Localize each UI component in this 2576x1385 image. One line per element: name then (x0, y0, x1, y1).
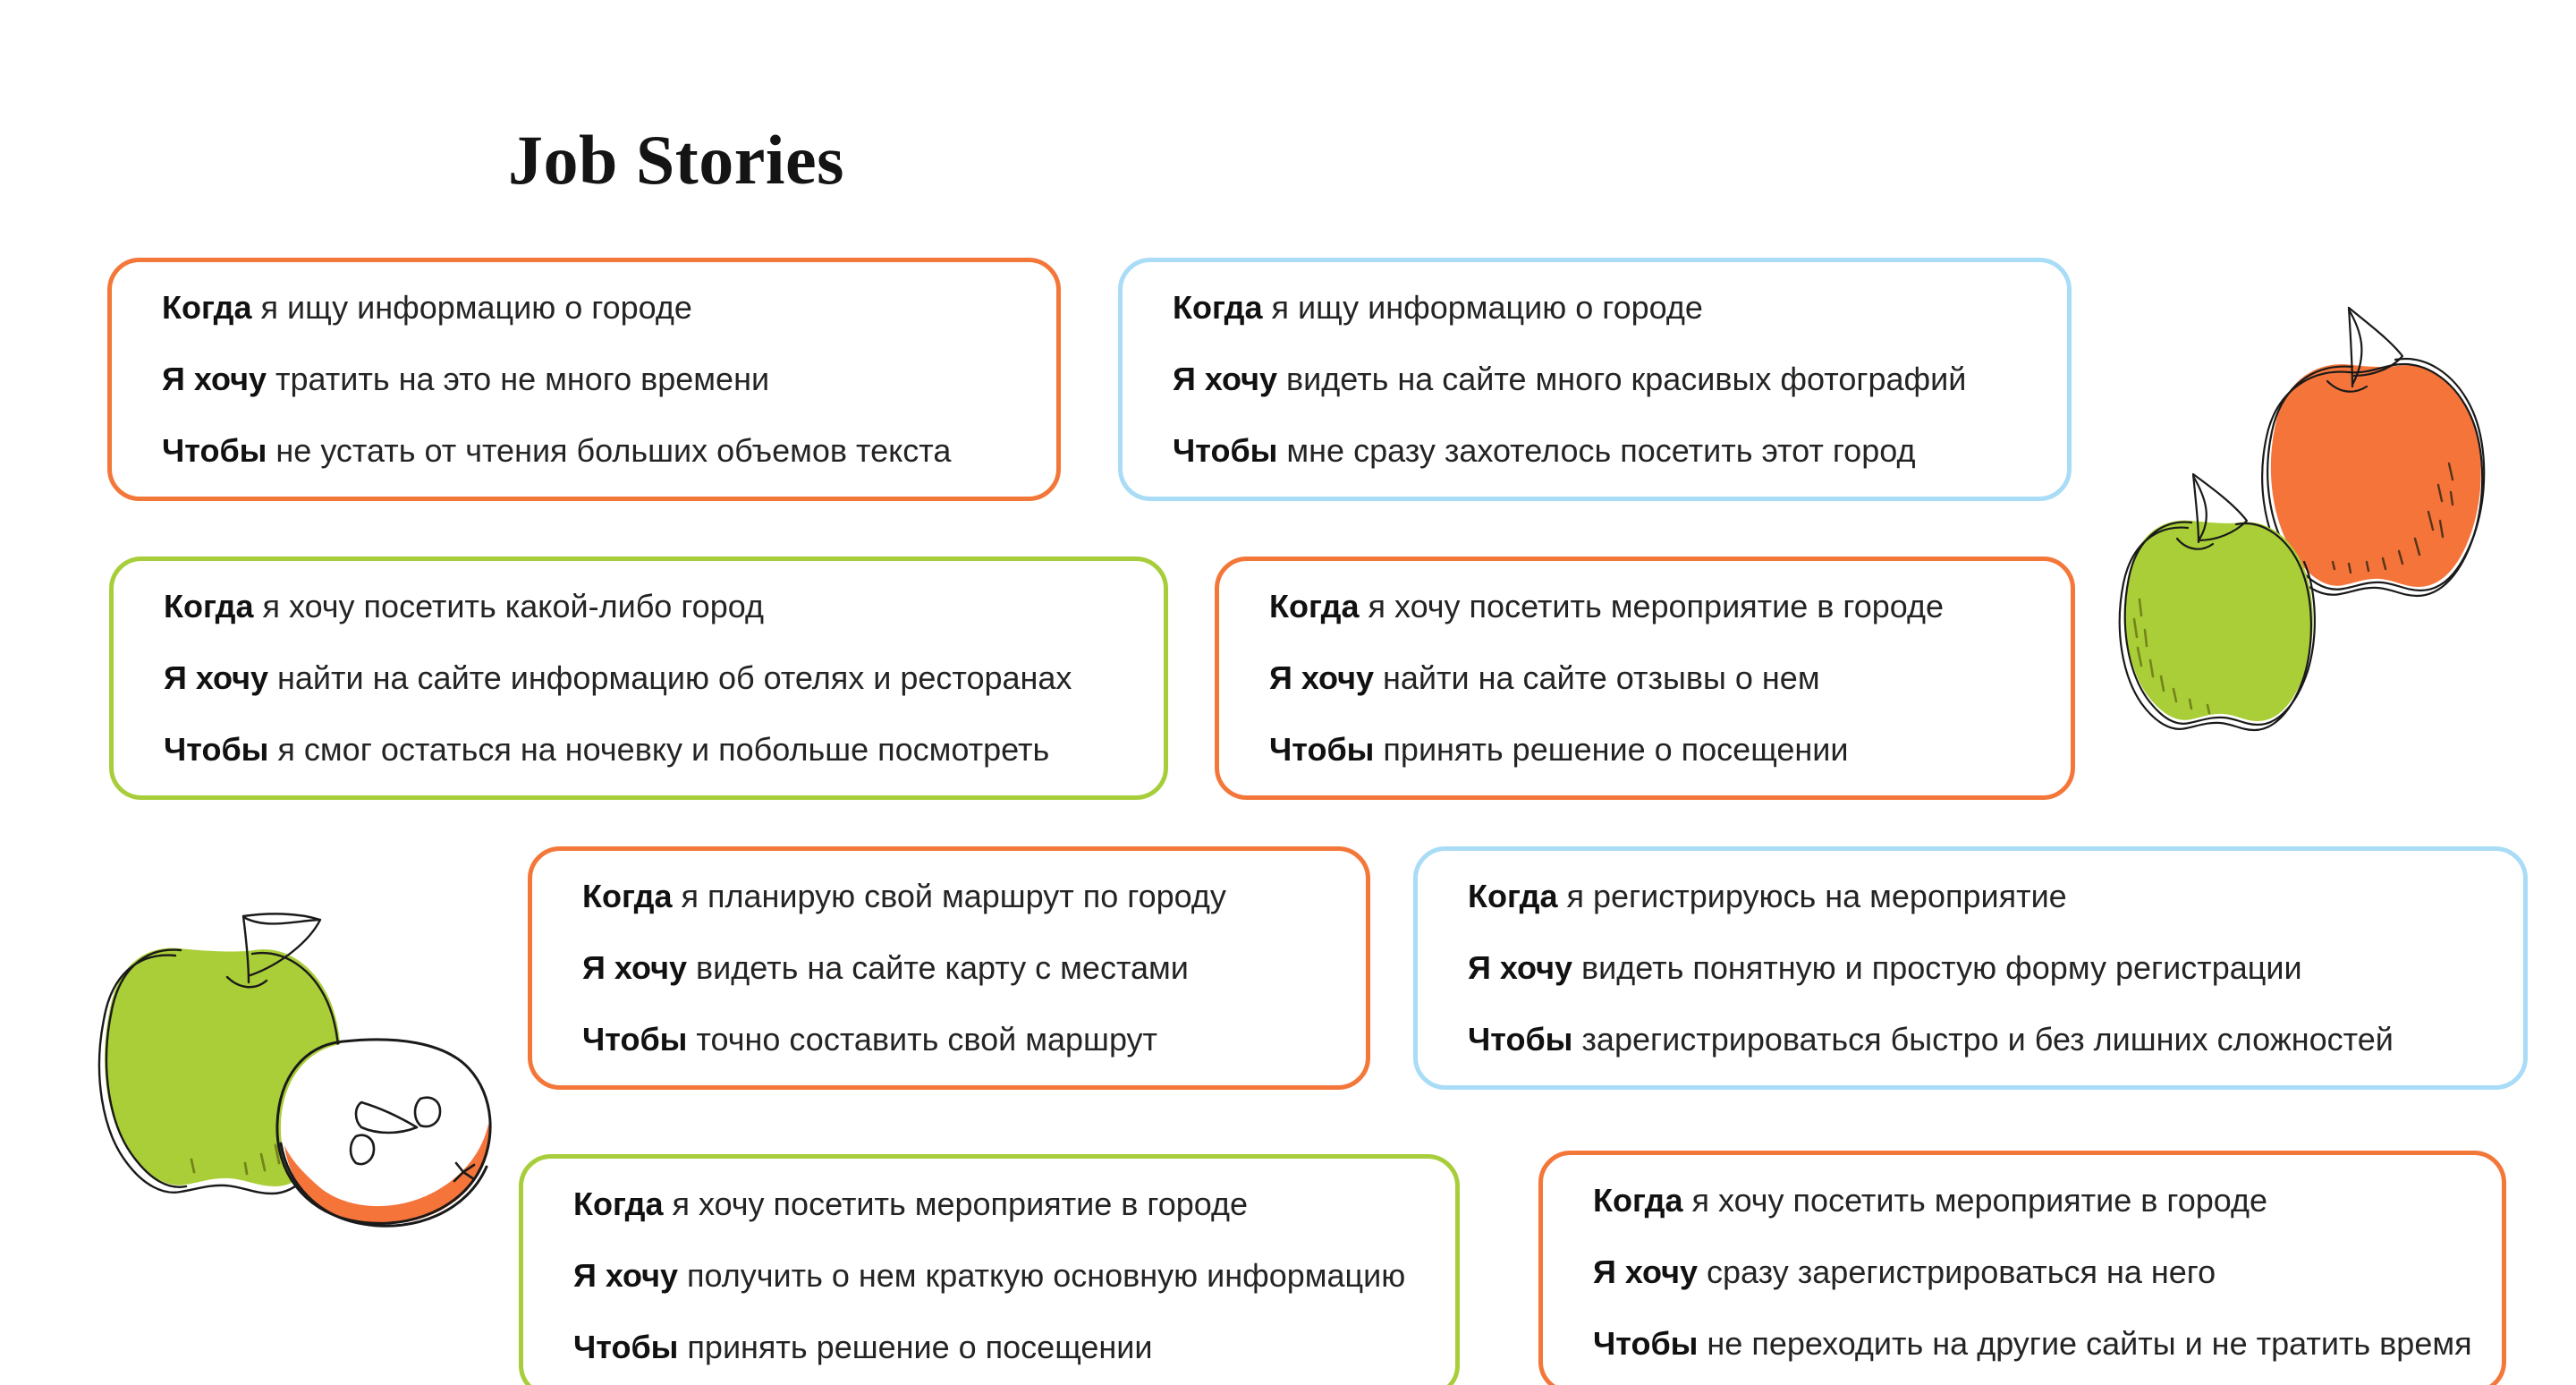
job-story-text: мне сразу захотелось посетить этот город (1277, 432, 1915, 469)
job-story-line: Когда я хочу посетить мероприятие в горо… (573, 1184, 1405, 1225)
job-story-line: Я хочу видеть на сайте много красивых фо… (1173, 359, 2017, 400)
job-story-line: Я хочу найти на сайте отзывы о нем (1269, 658, 2021, 699)
job-story-text: сразу зарегистрироваться на него (1698, 1253, 2216, 1290)
page-title: Job Stories (508, 125, 844, 195)
job-story-line: Чтобы я смог остаться на ночевку и побол… (164, 729, 1114, 770)
job-story-text: я смог остаться на ночевку и побольше по… (268, 731, 1049, 768)
job-story-text: не переходить на другие сайты и не трати… (1698, 1325, 2471, 1362)
job-story-card: Когда я ищу информацию о городе Я хочу т… (107, 258, 1061, 501)
job-story-text: я ищу информацию о городе (1262, 289, 1702, 326)
job-story-text: я хочу посетить мероприятие в городе (1682, 1182, 2267, 1219)
job-story-label: Когда (582, 878, 672, 914)
job-story-line: Когда я хочу посетить мероприятие в горо… (1593, 1180, 2452, 1221)
job-story-text: найти на сайте отзывы о нем (1374, 659, 1820, 696)
job-story-text: принять решение о посещении (678, 1329, 1152, 1365)
job-story-line: Я хочу найти на сайте информацию об отел… (164, 658, 1114, 699)
job-story-card: Когда я ищу информацию о городе Я хочу в… (1118, 258, 2072, 501)
job-story-label: Чтобы (582, 1021, 687, 1058)
job-story-line: Когда я хочу посетить мероприятие в горо… (1269, 586, 2021, 627)
job-story-card: Когда я хочу посетить мероприятие в горо… (1215, 557, 2075, 800)
job-story-label: Когда (1468, 878, 1557, 914)
job-story-label: Когда (1173, 289, 1262, 326)
job-story-line: Когда я хочу посетить какой-либо город (164, 586, 1114, 627)
job-story-text: видеть на сайте много красивых фотографи… (1277, 361, 1966, 397)
job-story-line: Когда я планирую свой маршрут по городу (582, 876, 1316, 917)
job-story-label: Когда (1593, 1182, 1682, 1219)
job-story-text: я хочу посетить мероприятие в городе (663, 1185, 1248, 1222)
job-story-label: Я хочу (1468, 949, 1572, 986)
job-story-label: Чтобы (1468, 1021, 1572, 1058)
job-story-label: Я хочу (162, 361, 267, 397)
job-story-label: Я хочу (1173, 361, 1277, 397)
job-story-line: Я хочу сразу зарегистрироваться на него (1593, 1252, 2452, 1293)
job-story-text: я ищу информацию о городе (251, 289, 691, 326)
job-story-line: Чтобы принять решение о посещении (1269, 729, 2021, 770)
job-story-line: Чтобы не устать от чтения больших объемо… (162, 430, 1006, 472)
job-story-line: Я хочу видеть на сайте карту с местами (582, 947, 1316, 989)
job-story-line: Чтобы мне сразу захотелось посетить этот… (1173, 430, 2017, 472)
job-story-text: видеть на сайте карту с местами (687, 949, 1189, 986)
job-story-label: Чтобы (573, 1329, 678, 1365)
job-story-line: Я хочу видеть понятную и простую форму р… (1468, 947, 2473, 989)
job-story-text: я планирую свой маршрут по городу (672, 878, 1225, 914)
job-story-label: Чтобы (1269, 731, 1374, 768)
job-story-label: Чтобы (164, 731, 268, 768)
job-story-label: Я хочу (1269, 659, 1374, 696)
job-story-text: получить о нем краткую основную информац… (678, 1257, 1405, 1294)
job-story-card: Когда я хочу посетить мероприятие в горо… (519, 1154, 1460, 1385)
job-story-label: Чтобы (162, 432, 267, 469)
job-story-card: Когда я регистрируюсь на мероприятие Я х… (1413, 846, 2528, 1090)
job-story-line: Чтобы точно составить свой маршрут (582, 1019, 1316, 1060)
apple-pair-illustration (2084, 286, 2549, 734)
job-story-label: Когда (162, 289, 251, 326)
job-story-text: зарегистрироваться быстро и без лишних с… (1572, 1021, 2393, 1058)
job-story-line: Чтобы зарегистрироваться быстро и без ли… (1468, 1019, 2473, 1060)
job-story-text: не устать от чтения больших объемов текс… (267, 432, 951, 469)
job-story-line: Когда я ищу информацию о городе (1173, 287, 2017, 328)
job-story-label: Я хочу (573, 1257, 678, 1294)
job-story-label: Я хочу (164, 659, 268, 696)
job-story-label: Когда (1269, 588, 1359, 625)
job-story-line: Чтобы принять решение о посещении (573, 1327, 1405, 1368)
job-story-text: принять решение о посещении (1374, 731, 1848, 768)
job-story-text: видеть понятную и простую форму регистра… (1572, 949, 2302, 986)
job-story-line: Когда я ищу информацию о городе (162, 287, 1006, 328)
job-story-text: тратить на это не много времени (267, 361, 769, 397)
job-story-line: Я хочу тратить на это не много времени (162, 359, 1006, 400)
job-story-text: я регистрируюсь на мероприятие (1557, 878, 2066, 914)
job-story-label: Чтобы (1593, 1325, 1698, 1362)
job-story-card: Когда я планирую свой маршрут по городу … (528, 846, 1370, 1090)
job-story-label: Я хочу (1593, 1253, 1698, 1290)
job-story-text: найти на сайте информацию об отелях и ре… (268, 659, 1072, 696)
job-story-label: Когда (573, 1185, 663, 1222)
apple-and-half-illustration (70, 877, 517, 1253)
job-story-text: я хочу посетить какой-либо город (253, 588, 763, 625)
job-story-label: Когда (164, 588, 253, 625)
job-story-card: Когда я хочу посетить какой-либо город Я… (109, 557, 1168, 800)
job-story-card: Когда я хочу посетить мероприятие в горо… (1538, 1151, 2506, 1385)
job-story-text: я хочу посетить мероприятие в городе (1359, 588, 1944, 625)
job-story-label: Я хочу (582, 949, 687, 986)
job-story-text: точно составить свой маршрут (687, 1021, 1157, 1058)
slide-canvas: Job Stories (0, 0, 2576, 1385)
job-story-line: Чтобы не переходить на другие сайты и не… (1593, 1323, 2452, 1364)
job-story-label: Чтобы (1173, 432, 1277, 469)
job-story-line: Когда я регистрируюсь на мероприятие (1468, 876, 2473, 917)
job-story-line: Я хочу получить о нем краткую основную и… (573, 1255, 1405, 1296)
